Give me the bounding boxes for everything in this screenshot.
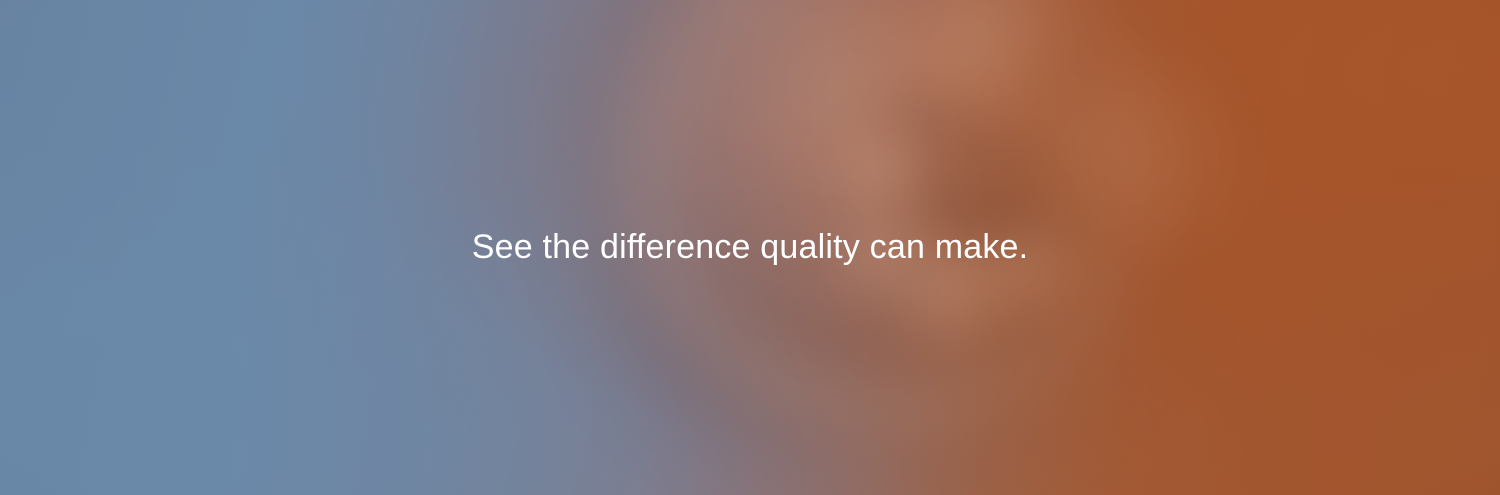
hero-banner: See the difference quality can make.: [0, 0, 1500, 495]
hero-headline: See the difference quality can make.: [472, 227, 1029, 268]
hero-content: See the difference quality can make.: [0, 0, 1500, 495]
